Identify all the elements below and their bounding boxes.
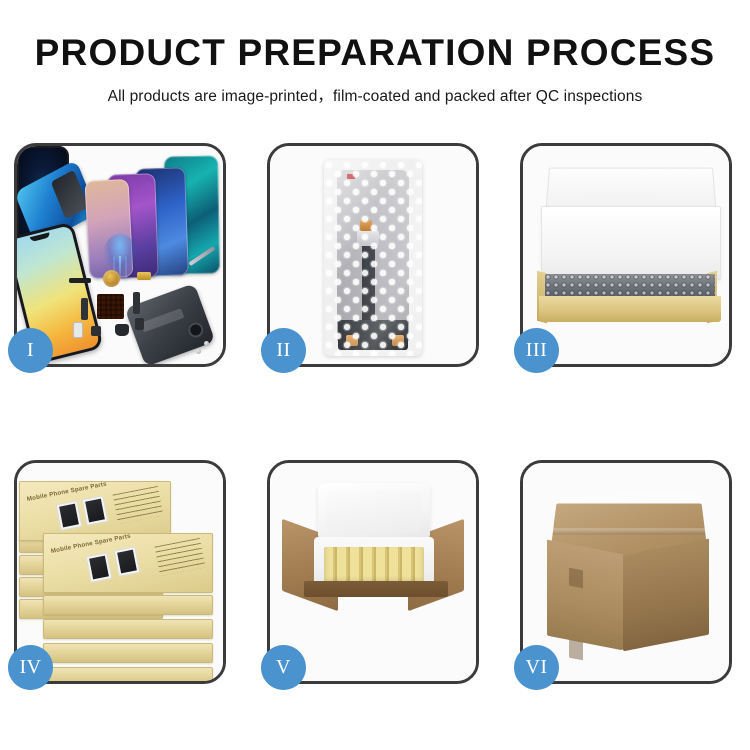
- step-4-image: Mobile Phone Spare Parts Mobile Phone Sp…: [17, 463, 223, 681]
- step-badge-1: I: [8, 328, 53, 373]
- page-title: PRODUCT PREPARATION PROCESS: [0, 34, 750, 73]
- process-step-5[interactable]: V: [267, 460, 479, 684]
- part-sim-tray: [73, 322, 83, 338]
- retail-box-front-4: [43, 643, 213, 663]
- page-header: PRODUCT PREPARATION PROCESS All products…: [0, 0, 750, 106]
- yellow-boxes-inside: [324, 547, 424, 585]
- inner-box-lid-front: [541, 206, 721, 280]
- carton-hand-hole-upper: [569, 568, 583, 589]
- step-3-image: [523, 146, 729, 364]
- step-badge-6: VI: [514, 645, 559, 690]
- step-5-image: [270, 463, 476, 681]
- part-copper-coil: [103, 270, 120, 287]
- part-screw-a: [204, 341, 209, 346]
- process-step-6[interactable]: VI: [520, 460, 732, 684]
- box-spec-lines-back: [113, 486, 164, 524]
- box-thumb-back-a: [56, 500, 83, 531]
- part-vibrator-motor: [135, 318, 144, 330]
- step-2-image: [270, 146, 476, 364]
- carton-hand-hole-lower: [569, 640, 583, 661]
- part-gold-connector: [137, 272, 151, 280]
- carton-front-wall: [310, 589, 442, 661]
- box-thumb-front-a: [86, 552, 113, 583]
- part-chip-array: [97, 294, 124, 319]
- sealed-carton-face-right: [623, 539, 709, 652]
- step-1-image: [17, 146, 223, 364]
- retail-box-front-3: [43, 619, 213, 639]
- step-badge-4: IV: [8, 645, 53, 690]
- bag-sheen: [324, 160, 422, 356]
- part-flex-cable-a: [81, 298, 88, 320]
- part-flex-cable-b: [133, 292, 140, 314]
- box-thumb-front-b: [114, 546, 141, 577]
- process-step-1[interactable]: I: [14, 143, 226, 367]
- bubble-wrap-bag: [324, 160, 422, 356]
- phones-and-parts-scene: [17, 146, 223, 364]
- part-earpiece-mesh: [69, 278, 91, 283]
- retail-box-front-2: [43, 595, 213, 615]
- part-speaker-module: [115, 324, 129, 336]
- process-step-grid: I II: [14, 143, 737, 684]
- inner-box-front-panel: [539, 296, 721, 322]
- sealed-carton-face-left: [547, 540, 623, 651]
- retail-box-top-front: Mobile Phone Spare Parts: [43, 533, 213, 593]
- retail-box-top-back: Mobile Phone Spare Parts: [19, 481, 171, 541]
- process-step-3[interactable]: III: [520, 143, 732, 367]
- part-camera-module: [91, 326, 101, 336]
- box-spec-lines-front: [155, 538, 206, 576]
- part-screw-b: [196, 349, 201, 354]
- box-thumb-back-b: [82, 495, 109, 526]
- retail-box-front-5: [43, 667, 213, 681]
- step-badge-5: V: [261, 645, 306, 690]
- page-subtitle: All products are image-printed，film-coat…: [0, 84, 750, 106]
- retail-box-stack: Mobile Phone Spare Parts Mobile Phone Sp…: [17, 481, 223, 673]
- step-badge-3: III: [514, 328, 559, 373]
- foam-box-lid: [318, 483, 430, 541]
- step-badge-2: II: [261, 328, 306, 373]
- step-6-image: [523, 463, 729, 681]
- process-step-4[interactable]: Mobile Phone Spare Parts Mobile Phone Sp…: [14, 460, 226, 684]
- process-step-2[interactable]: II: [267, 143, 479, 367]
